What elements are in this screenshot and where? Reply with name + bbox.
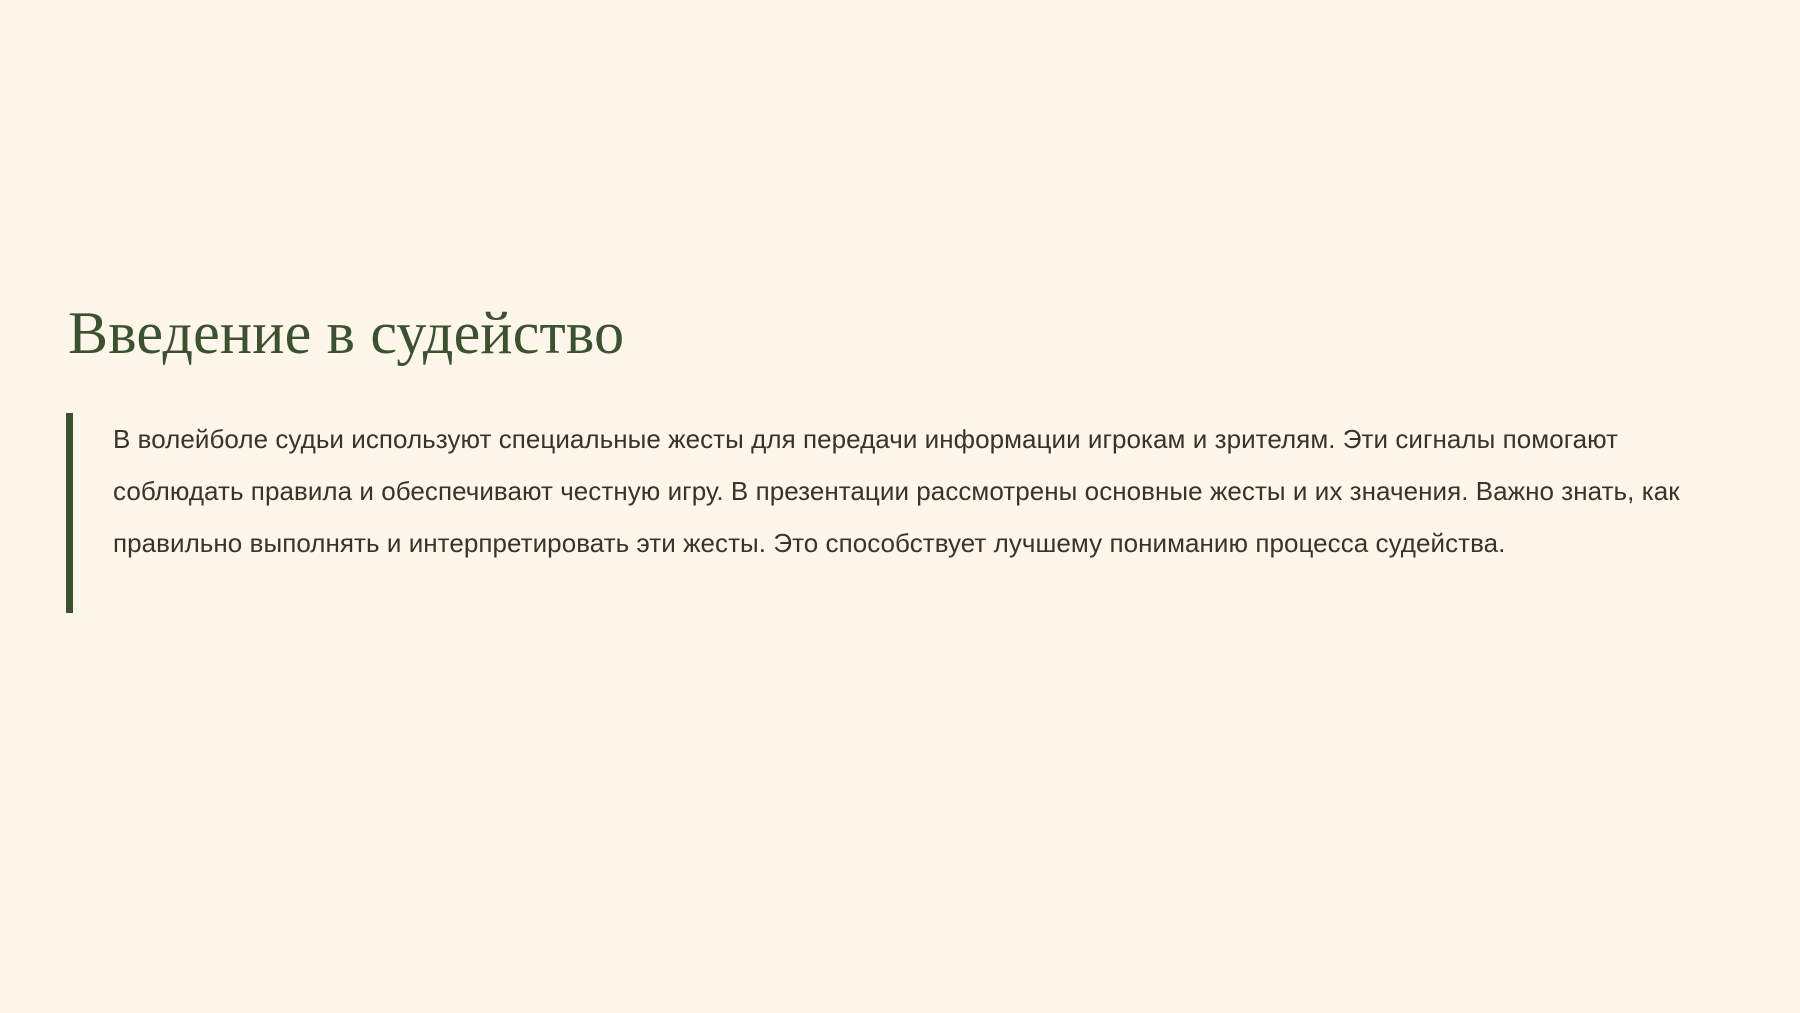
accent-bar <box>66 413 73 613</box>
page-title: Введение в судейство <box>66 300 1766 367</box>
body-callout-block: В волейболе судьи используют специальные… <box>66 413 1766 613</box>
slide-content-area: Введение в судейство В волейболе судьи и… <box>66 300 1766 613</box>
body-paragraph: В волейболе судьи используют специальные… <box>113 413 1743 569</box>
presentation-slide: Введение в судейство В волейболе судьи и… <box>0 0 1800 1013</box>
